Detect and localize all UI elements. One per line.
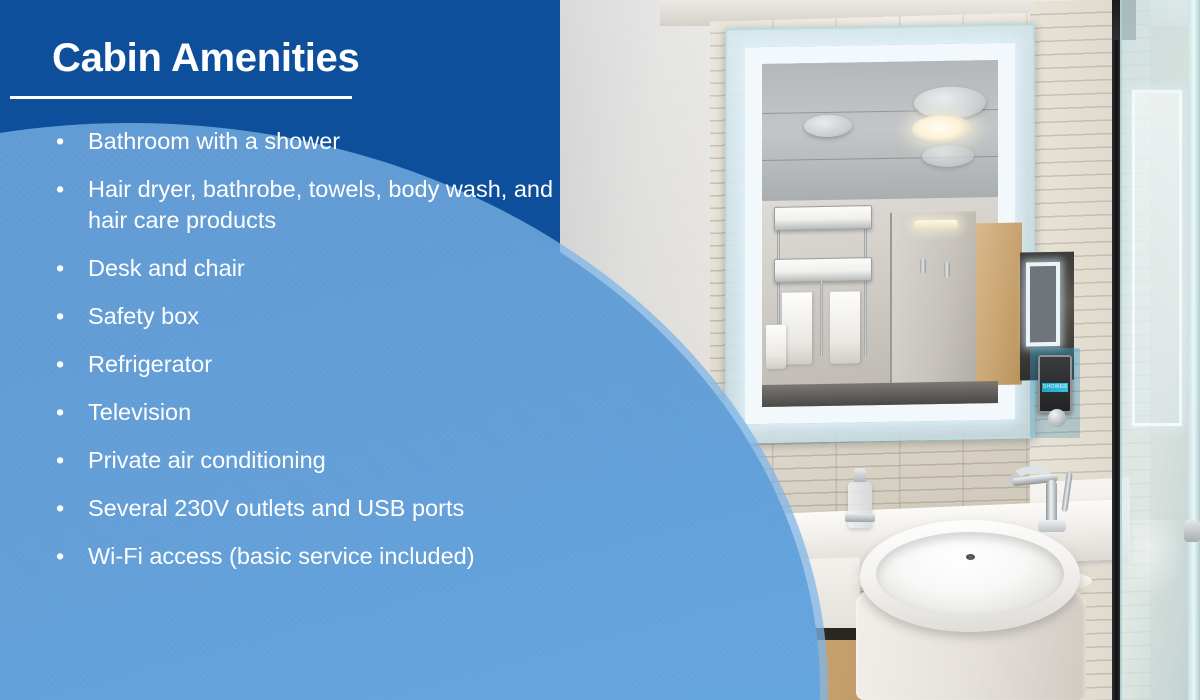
towel-shelf xyxy=(774,205,872,231)
door-lamp-icon xyxy=(914,220,958,230)
hanging-towel xyxy=(782,292,812,365)
faucet-base xyxy=(1038,520,1066,532)
coat-hook-icon xyxy=(944,262,950,278)
coat-hook-icon xyxy=(920,258,926,274)
bullet-marker-icon: • xyxy=(56,445,64,476)
towel-rack xyxy=(774,205,872,357)
mirror-led-frame xyxy=(745,43,1015,425)
ceiling-downlight-icon xyxy=(912,114,972,143)
amenities-list: •Bathroom with a shower•Hair dryer, bath… xyxy=(48,126,578,589)
towel-shelf xyxy=(774,257,872,283)
bullet-marker-icon: • xyxy=(56,397,64,428)
list-item: •Private air conditioning xyxy=(48,445,578,476)
list-item: •Bathroom with a shower xyxy=(48,126,578,157)
ceiling-vent-icon xyxy=(804,114,852,137)
led-mirror xyxy=(725,23,1035,443)
list-item: •Television xyxy=(48,397,578,428)
hanging-towel xyxy=(830,292,860,365)
bullet-marker-icon: • xyxy=(56,541,64,572)
reflected-ceiling xyxy=(762,60,998,201)
list-item-label: Several 230V outlets and USB ports xyxy=(88,495,464,521)
list-item-label: Safety box xyxy=(88,303,199,329)
bullet-marker-icon: • xyxy=(56,126,64,157)
bullet-marker-icon: • xyxy=(56,253,64,284)
slide-root: SHOWER xyxy=(0,0,1200,700)
page-title: Cabin Amenities xyxy=(52,36,359,81)
cabin-door xyxy=(890,212,976,405)
list-item-label: Television xyxy=(88,399,191,425)
reflected-room xyxy=(762,197,998,407)
hanging-towel xyxy=(766,325,786,369)
slide-content: Cabin Amenities •Bathroom with a shower•… xyxy=(0,0,600,700)
sink-drain-icon xyxy=(966,554,975,560)
bullet-marker-icon: • xyxy=(56,493,64,524)
shower-door-handle xyxy=(1184,520,1200,542)
sink-basin xyxy=(860,520,1080,632)
dispenser-label-band: SHOWER xyxy=(1042,383,1068,392)
soap-dispenser-holder xyxy=(845,514,875,522)
list-item: •Safety box xyxy=(48,301,578,332)
bullet-marker-icon: • xyxy=(56,301,64,332)
list-item: •Refrigerator xyxy=(48,349,578,380)
bullet-marker-icon: • xyxy=(56,349,64,380)
sink-basin-inner xyxy=(876,532,1064,616)
list-item-label: Desk and chair xyxy=(88,255,245,281)
shower-screen-edge xyxy=(1188,0,1200,700)
wood-wall-panel xyxy=(976,223,1022,386)
list-item-label: Wi-Fi access (basic service included) xyxy=(88,543,475,569)
reflected-floor xyxy=(762,381,998,407)
ceiling-vent-icon xyxy=(922,144,974,167)
title-underline-rule xyxy=(10,96,352,99)
list-item: •Desk and chair xyxy=(48,253,578,284)
list-item-label: Refrigerator xyxy=(88,351,212,377)
bullet-marker-icon: • xyxy=(56,174,64,205)
dispenser-label: SHOWER xyxy=(1042,383,1068,392)
list-item-label: Private air conditioning xyxy=(88,447,326,473)
list-item-label: Hair dryer, bathrobe, towels, body wash,… xyxy=(88,176,553,233)
far-mirror xyxy=(1026,262,1060,347)
list-item: •Several 230V outlets and USB ports xyxy=(48,493,578,524)
list-item: •Hair dryer, bathrobe, towels, body wash… xyxy=(48,174,578,236)
list-item-label: Bathroom with a shower xyxy=(88,128,340,154)
wall-dispenser: SHOWER xyxy=(1038,355,1072,413)
list-item: •Wi-Fi access (basic service included) xyxy=(48,541,578,572)
